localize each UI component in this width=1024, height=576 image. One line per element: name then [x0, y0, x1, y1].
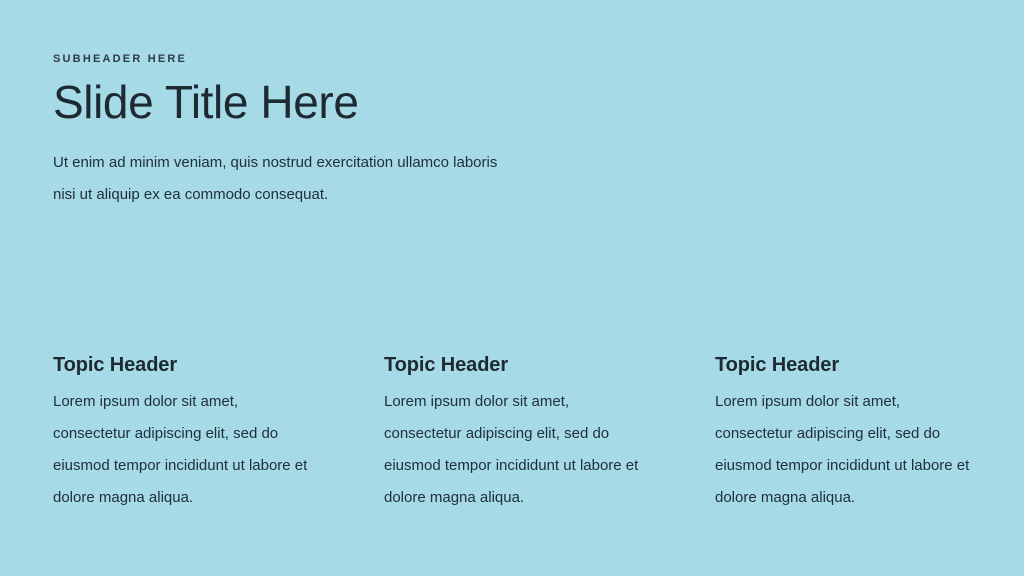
topic-body-2: Lorem ipsum dolor sit amet, consectetur …	[384, 386, 650, 514]
topic-body-1: Lorem ipsum dolor sit amet, consectetur …	[53, 386, 319, 514]
topic-body-3: Lorem ipsum dolor sit amet, consectetur …	[715, 386, 981, 514]
slide-intro-paragraph: Ut enim ad minim veniam, quis nostrud ex…	[53, 147, 523, 211]
topic-columns: Topic Header Lorem ipsum dolor sit amet,…	[53, 352, 983, 514]
page-title: Slide Title Here	[53, 76, 673, 128]
topic-header-1: Topic Header	[53, 352, 319, 378]
topic-column-2: Topic Header Lorem ipsum dolor sit amet,…	[384, 352, 650, 514]
topic-header-2: Topic Header	[384, 352, 650, 378]
topic-header-3: Topic Header	[715, 352, 981, 378]
slide-subheader: SUBHEADER HERE	[53, 52, 673, 66]
slide-header-block: SUBHEADER HERE Slide Title Here Ut enim …	[53, 52, 673, 211]
topic-column-3: Topic Header Lorem ipsum dolor sit amet,…	[715, 352, 981, 514]
topic-column-1: Topic Header Lorem ipsum dolor sit amet,…	[53, 352, 319, 514]
slide-canvas: SUBHEADER HERE Slide Title Here Ut enim …	[0, 0, 1024, 576]
